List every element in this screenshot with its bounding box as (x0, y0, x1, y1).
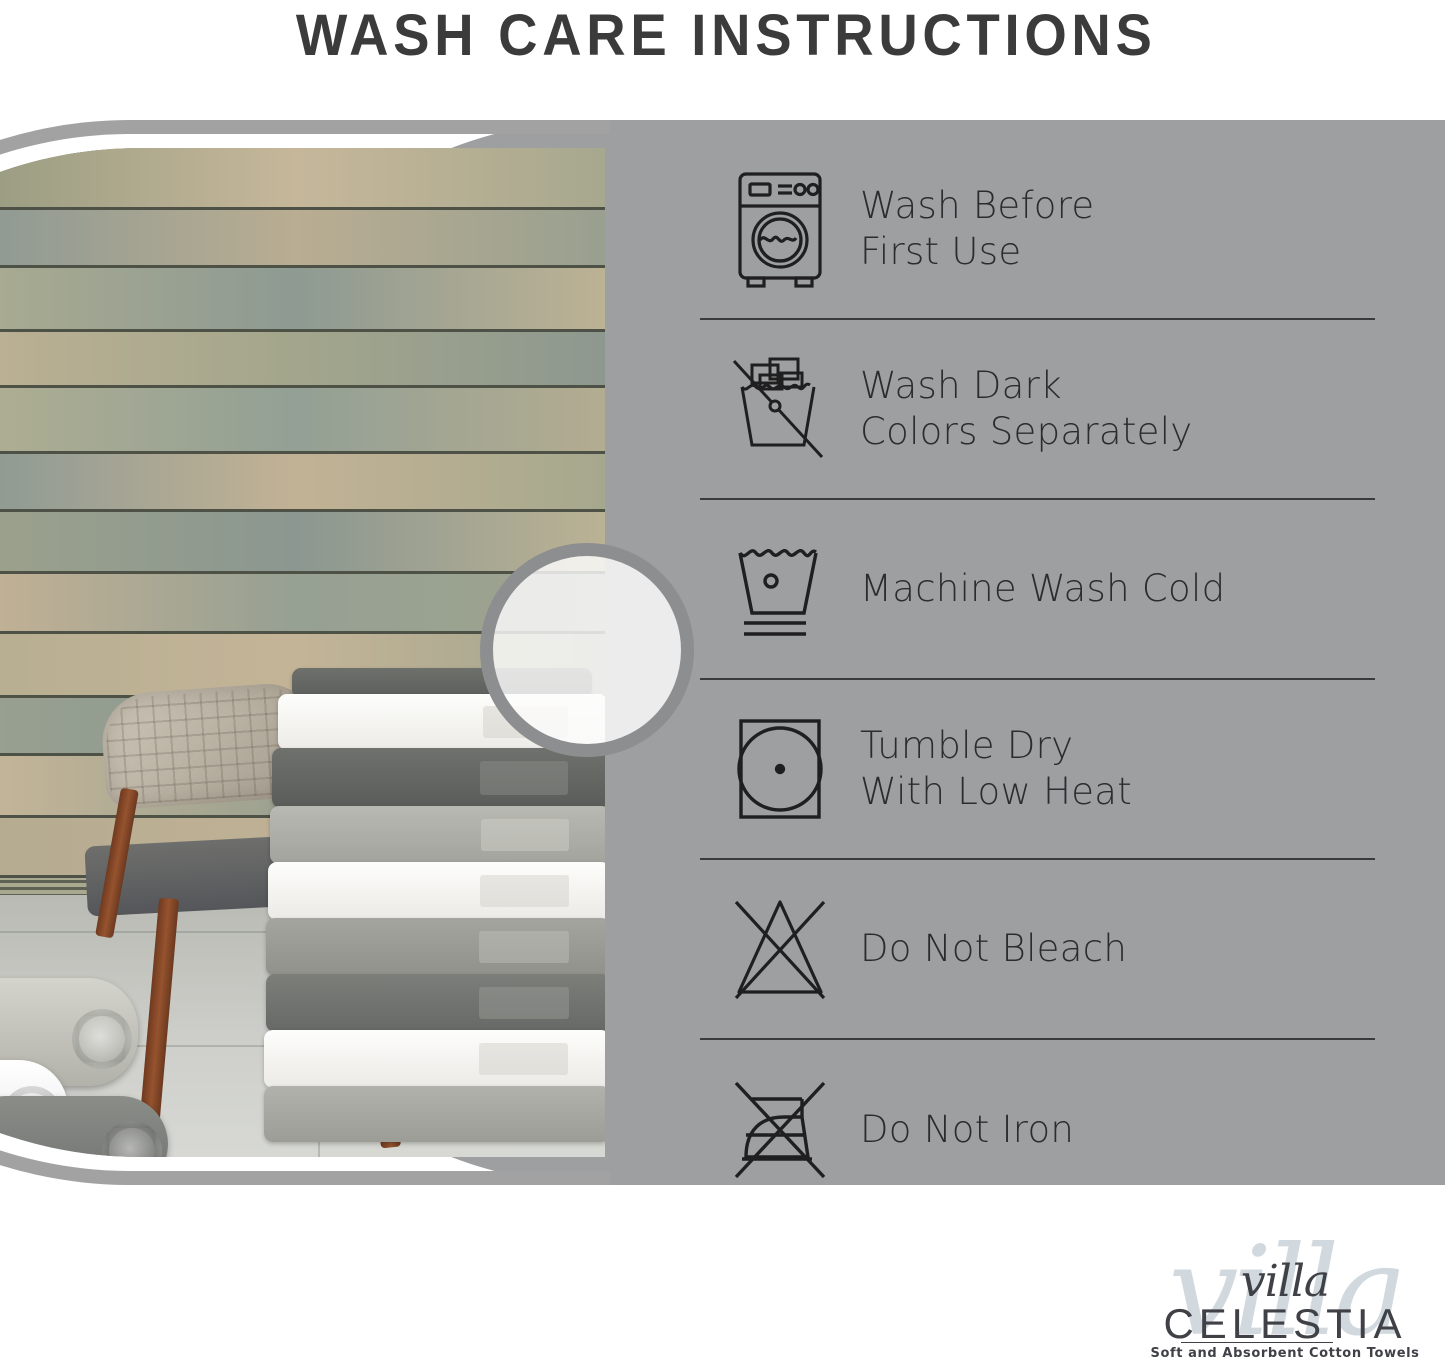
wash-tub-crossed-icon (700, 355, 860, 463)
instruction-label: Machine Wash Cold (860, 566, 1225, 612)
instruction-list: Wash Before First Use Wash Dark Colors S… (700, 140, 1375, 1220)
towel-rolled (0, 1096, 168, 1157)
wash-tub-one-dot-icon (700, 535, 860, 643)
instruction-row-tumble-dry-with-low-heat: Tumble Dry With Low Heat (700, 680, 1375, 860)
towel-folded (270, 806, 605, 864)
logo-name-celestia: CELESTIA (1135, 1300, 1435, 1348)
magnifier-circle (480, 543, 694, 757)
instruction-label: Do Not Bleach (860, 926, 1127, 972)
brand-logo: villa villa CELESTIA Soft and Absorbent … (1135, 1238, 1435, 1366)
instruction-row-wash-before-first-use: Wash Before First Use (700, 140, 1375, 320)
towel-folded (266, 974, 605, 1032)
towel-folded (264, 1086, 605, 1142)
tumble-dry-low-icon (700, 715, 860, 823)
washing-machine-icon (700, 170, 860, 288)
page-title: WASH CARE INSTRUCTIONS (43, 0, 1401, 72)
wash-care-instructions-page: WASH CARE INSTRUCTIONS (0, 0, 1445, 1367)
instruction-row-do-not-iron: Do Not Iron (700, 1040, 1375, 1220)
towel-folded (264, 1030, 605, 1088)
instruction-row-machine-wash-cold: Machine Wash Cold (700, 500, 1375, 680)
do-not-iron-icon (700, 1077, 860, 1183)
instruction-label: Wash Before First Use (860, 183, 1095, 275)
do-not-bleach-icon (700, 894, 860, 1004)
instruction-row-wash-dark-colors-separately: Wash Dark Colors Separately (700, 320, 1375, 500)
instruction-row-do-not-bleach: Do Not Bleach (700, 860, 1375, 1040)
instruction-label: Tumble Dry With Low Heat (860, 723, 1132, 815)
towel-folded (268, 862, 605, 920)
logo-tagline: Soft and Absorbent Cotton Towels (1135, 1346, 1435, 1361)
logo-divider (1181, 1342, 1333, 1343)
towel-folded (272, 748, 605, 808)
towel-folded (266, 918, 605, 976)
instruction-label: Wash Dark Colors Separately (860, 363, 1192, 455)
instruction-label: Do Not Iron (860, 1107, 1074, 1153)
